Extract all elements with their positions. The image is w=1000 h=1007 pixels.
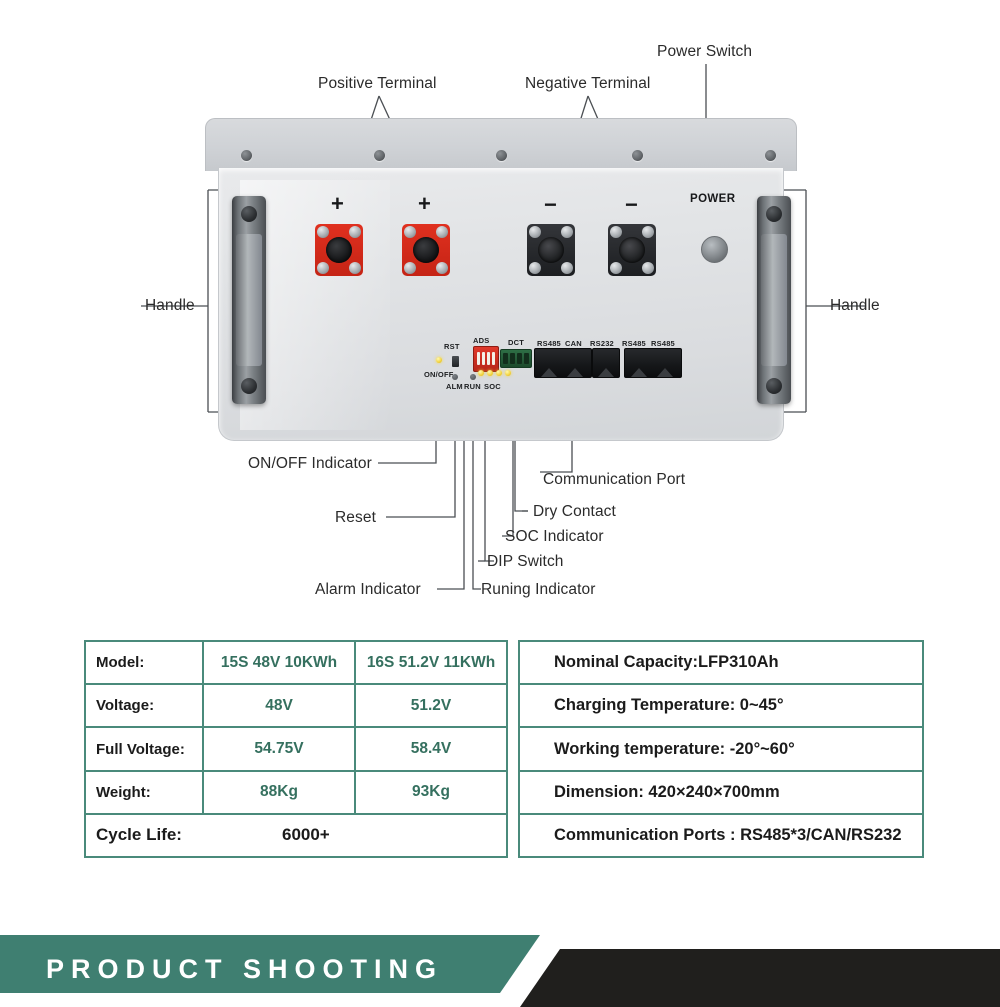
table-row: Voltage: 48V 51.2V bbox=[86, 685, 506, 728]
callout-handle-right: Handle bbox=[830, 297, 880, 315]
handle-screw bbox=[766, 206, 782, 222]
row-value-2: 16S 51.2V 11KWh bbox=[356, 642, 506, 683]
spec-text: Communication Ports : RS485*3/CAN/RS232 bbox=[520, 815, 922, 856]
run-label: RUN bbox=[464, 382, 481, 391]
spec-table-right: Nominal Capacity:LFP310Ah Charging Tempe… bbox=[518, 640, 924, 858]
rs485-2-label: RS485 bbox=[622, 339, 646, 348]
terminal-screw bbox=[317, 262, 329, 274]
terminal-bore bbox=[538, 237, 564, 263]
runing-indicator-led bbox=[470, 374, 476, 380]
terminal-bore bbox=[619, 237, 645, 263]
callout-reset: Reset bbox=[335, 509, 376, 527]
terminal-screw bbox=[561, 226, 573, 238]
can-label: CAN bbox=[565, 339, 582, 348]
terminal-screw bbox=[436, 262, 448, 274]
handle-screw bbox=[766, 378, 782, 394]
positive-terminal-1 bbox=[315, 224, 363, 276]
comm-port-rs232[interactable] bbox=[592, 348, 620, 378]
rs232-label: RS232 bbox=[590, 339, 614, 348]
onoff-label: ON/OFF bbox=[424, 370, 454, 379]
handle-right bbox=[757, 196, 791, 404]
soc-led bbox=[478, 370, 484, 376]
cycle-life-value: 6000+ bbox=[282, 825, 330, 845]
handle-screw bbox=[241, 378, 257, 394]
specification-tables: Model: 15S 48V 10KWh 16S 51.2V 11KWh Vol… bbox=[84, 640, 924, 858]
power-label: POWER bbox=[690, 193, 735, 205]
table-row: Weight: 88Kg 93Kg bbox=[86, 772, 506, 815]
case-screw bbox=[241, 150, 252, 161]
terminal-screw bbox=[349, 226, 361, 238]
case-screw bbox=[374, 150, 385, 161]
case-screw bbox=[496, 150, 507, 161]
case-screw bbox=[765, 150, 776, 161]
banner-black-band bbox=[520, 949, 1000, 1007]
soc-led bbox=[505, 370, 511, 376]
battery-case-body bbox=[218, 168, 784, 441]
rs485-1-label: RS485 bbox=[537, 339, 561, 348]
terminal-screw bbox=[529, 262, 541, 274]
callout-handle-left: Handle bbox=[145, 297, 195, 315]
power-switch[interactable] bbox=[701, 236, 728, 263]
dry-contact-terminal[interactable] bbox=[500, 349, 532, 368]
spec-text: Dimension: 420×240×700mm bbox=[520, 772, 922, 813]
callout-negative-terminal: Negative Terminal bbox=[525, 75, 650, 93]
row-value-2: 93Kg bbox=[356, 772, 506, 813]
rs485-3-label: RS485 bbox=[651, 339, 675, 348]
table-row-cycle-life: Cycle Life: 6000+ bbox=[86, 815, 506, 856]
soc-led bbox=[496, 370, 502, 376]
callout-dip-switch: DIP Switch bbox=[487, 553, 564, 571]
cycle-life-label: Cycle Life: bbox=[96, 825, 182, 845]
row-label: Voltage: bbox=[86, 685, 204, 726]
spec-text: Charging Temperature: 0~45° bbox=[520, 685, 922, 726]
terminal-screw bbox=[317, 226, 329, 238]
row-label: Model: bbox=[86, 642, 204, 683]
ads-label: ADS bbox=[473, 336, 489, 345]
terminal-bore bbox=[326, 237, 352, 263]
callout-communication-port: Communication Port bbox=[543, 471, 685, 489]
terminal-screw bbox=[404, 262, 416, 274]
table-row: Nominal Capacity:LFP310Ah bbox=[520, 642, 922, 685]
dip-switch[interactable] bbox=[473, 346, 499, 372]
row-value-1: 48V bbox=[204, 685, 356, 726]
case-screw bbox=[632, 150, 643, 161]
rst-label: RST bbox=[444, 342, 460, 351]
positive-terminal-2 bbox=[402, 224, 450, 276]
terminal-screw bbox=[561, 262, 573, 274]
product-diagram: + + − − POWER ON/OFF RST ALM RUN ADS SOC bbox=[0, 0, 1000, 620]
spec-table-left: Model: 15S 48V 10KWh 16S 51.2V 11KWh Vol… bbox=[84, 640, 508, 858]
negative-sign-1: − bbox=[544, 194, 557, 216]
terminal-screw bbox=[529, 226, 541, 238]
terminal-screw bbox=[436, 226, 448, 238]
cycle-life-cell: Cycle Life: 6000+ bbox=[86, 815, 506, 856]
negative-terminal-1 bbox=[527, 224, 575, 276]
row-value-1: 15S 48V 10KWh bbox=[204, 642, 356, 683]
table-row: Charging Temperature: 0~45° bbox=[520, 685, 922, 728]
table-row: Communication Ports : RS485*3/CAN/RS232 bbox=[520, 815, 922, 856]
dct-label: DCT bbox=[508, 338, 524, 347]
alm-label: ALM bbox=[446, 382, 463, 391]
terminal-screw bbox=[642, 226, 654, 238]
battery-case-top-flange bbox=[205, 118, 797, 171]
alarm-indicator-led bbox=[452, 374, 458, 380]
callout-soc-indicator: SOC Indicator bbox=[505, 528, 604, 546]
terminal-screw bbox=[404, 226, 416, 238]
banner-title: PRODUCT SHOOTING bbox=[46, 949, 443, 989]
callout-power-switch: Power Switch bbox=[657, 43, 752, 61]
row-value-2: 58.4V bbox=[356, 728, 506, 769]
positive-sign-1: + bbox=[331, 193, 344, 215]
negative-sign-2: − bbox=[625, 194, 638, 216]
row-label: Weight: bbox=[86, 772, 204, 813]
handle-grip bbox=[236, 234, 262, 366]
comm-port-rs485-rs485[interactable] bbox=[624, 348, 682, 378]
callout-dry-contact: Dry Contact bbox=[533, 503, 616, 521]
negative-terminal-2 bbox=[608, 224, 656, 276]
reset-button[interactable] bbox=[452, 356, 459, 367]
comm-port-rs485-can[interactable] bbox=[534, 348, 592, 378]
callout-onoff-indicator: ON/OFF Indicator bbox=[248, 455, 372, 473]
spec-text: Nominal Capacity:LFP310Ah bbox=[520, 642, 922, 683]
callout-positive-terminal: Positive Terminal bbox=[318, 75, 437, 93]
handle-grip bbox=[761, 234, 787, 366]
callout-runing-indicator: Runing Indicator bbox=[481, 581, 595, 599]
table-row: Full Voltage: 54.75V 58.4V bbox=[86, 728, 506, 771]
row-label: Full Voltage: bbox=[86, 728, 204, 769]
terminal-screw bbox=[349, 262, 361, 274]
callout-alarm-indicator: Alarm Indicator bbox=[315, 581, 421, 599]
terminal-screw bbox=[610, 262, 622, 274]
terminal-bore bbox=[413, 237, 439, 263]
soc-label: SOC bbox=[484, 382, 501, 391]
terminal-screw bbox=[642, 262, 654, 274]
soc-led bbox=[487, 370, 493, 376]
handle-left bbox=[232, 196, 266, 404]
table-row: Model: 15S 48V 10KWh 16S 51.2V 11KWh bbox=[86, 642, 506, 685]
table-row: Working temperature: -20°~60° bbox=[520, 728, 922, 771]
terminal-screw bbox=[610, 226, 622, 238]
row-value-2: 51.2V bbox=[356, 685, 506, 726]
spec-text: Working temperature: -20°~60° bbox=[520, 728, 922, 769]
positive-sign-2: + bbox=[418, 193, 431, 215]
row-value-1: 54.75V bbox=[204, 728, 356, 769]
onoff-indicator-led bbox=[436, 357, 442, 363]
table-row: Dimension: 420×240×700mm bbox=[520, 772, 922, 815]
bottom-banner: PRODUCT SHOOTING bbox=[0, 935, 1000, 1007]
handle-screw bbox=[241, 206, 257, 222]
row-value-1: 88Kg bbox=[204, 772, 356, 813]
